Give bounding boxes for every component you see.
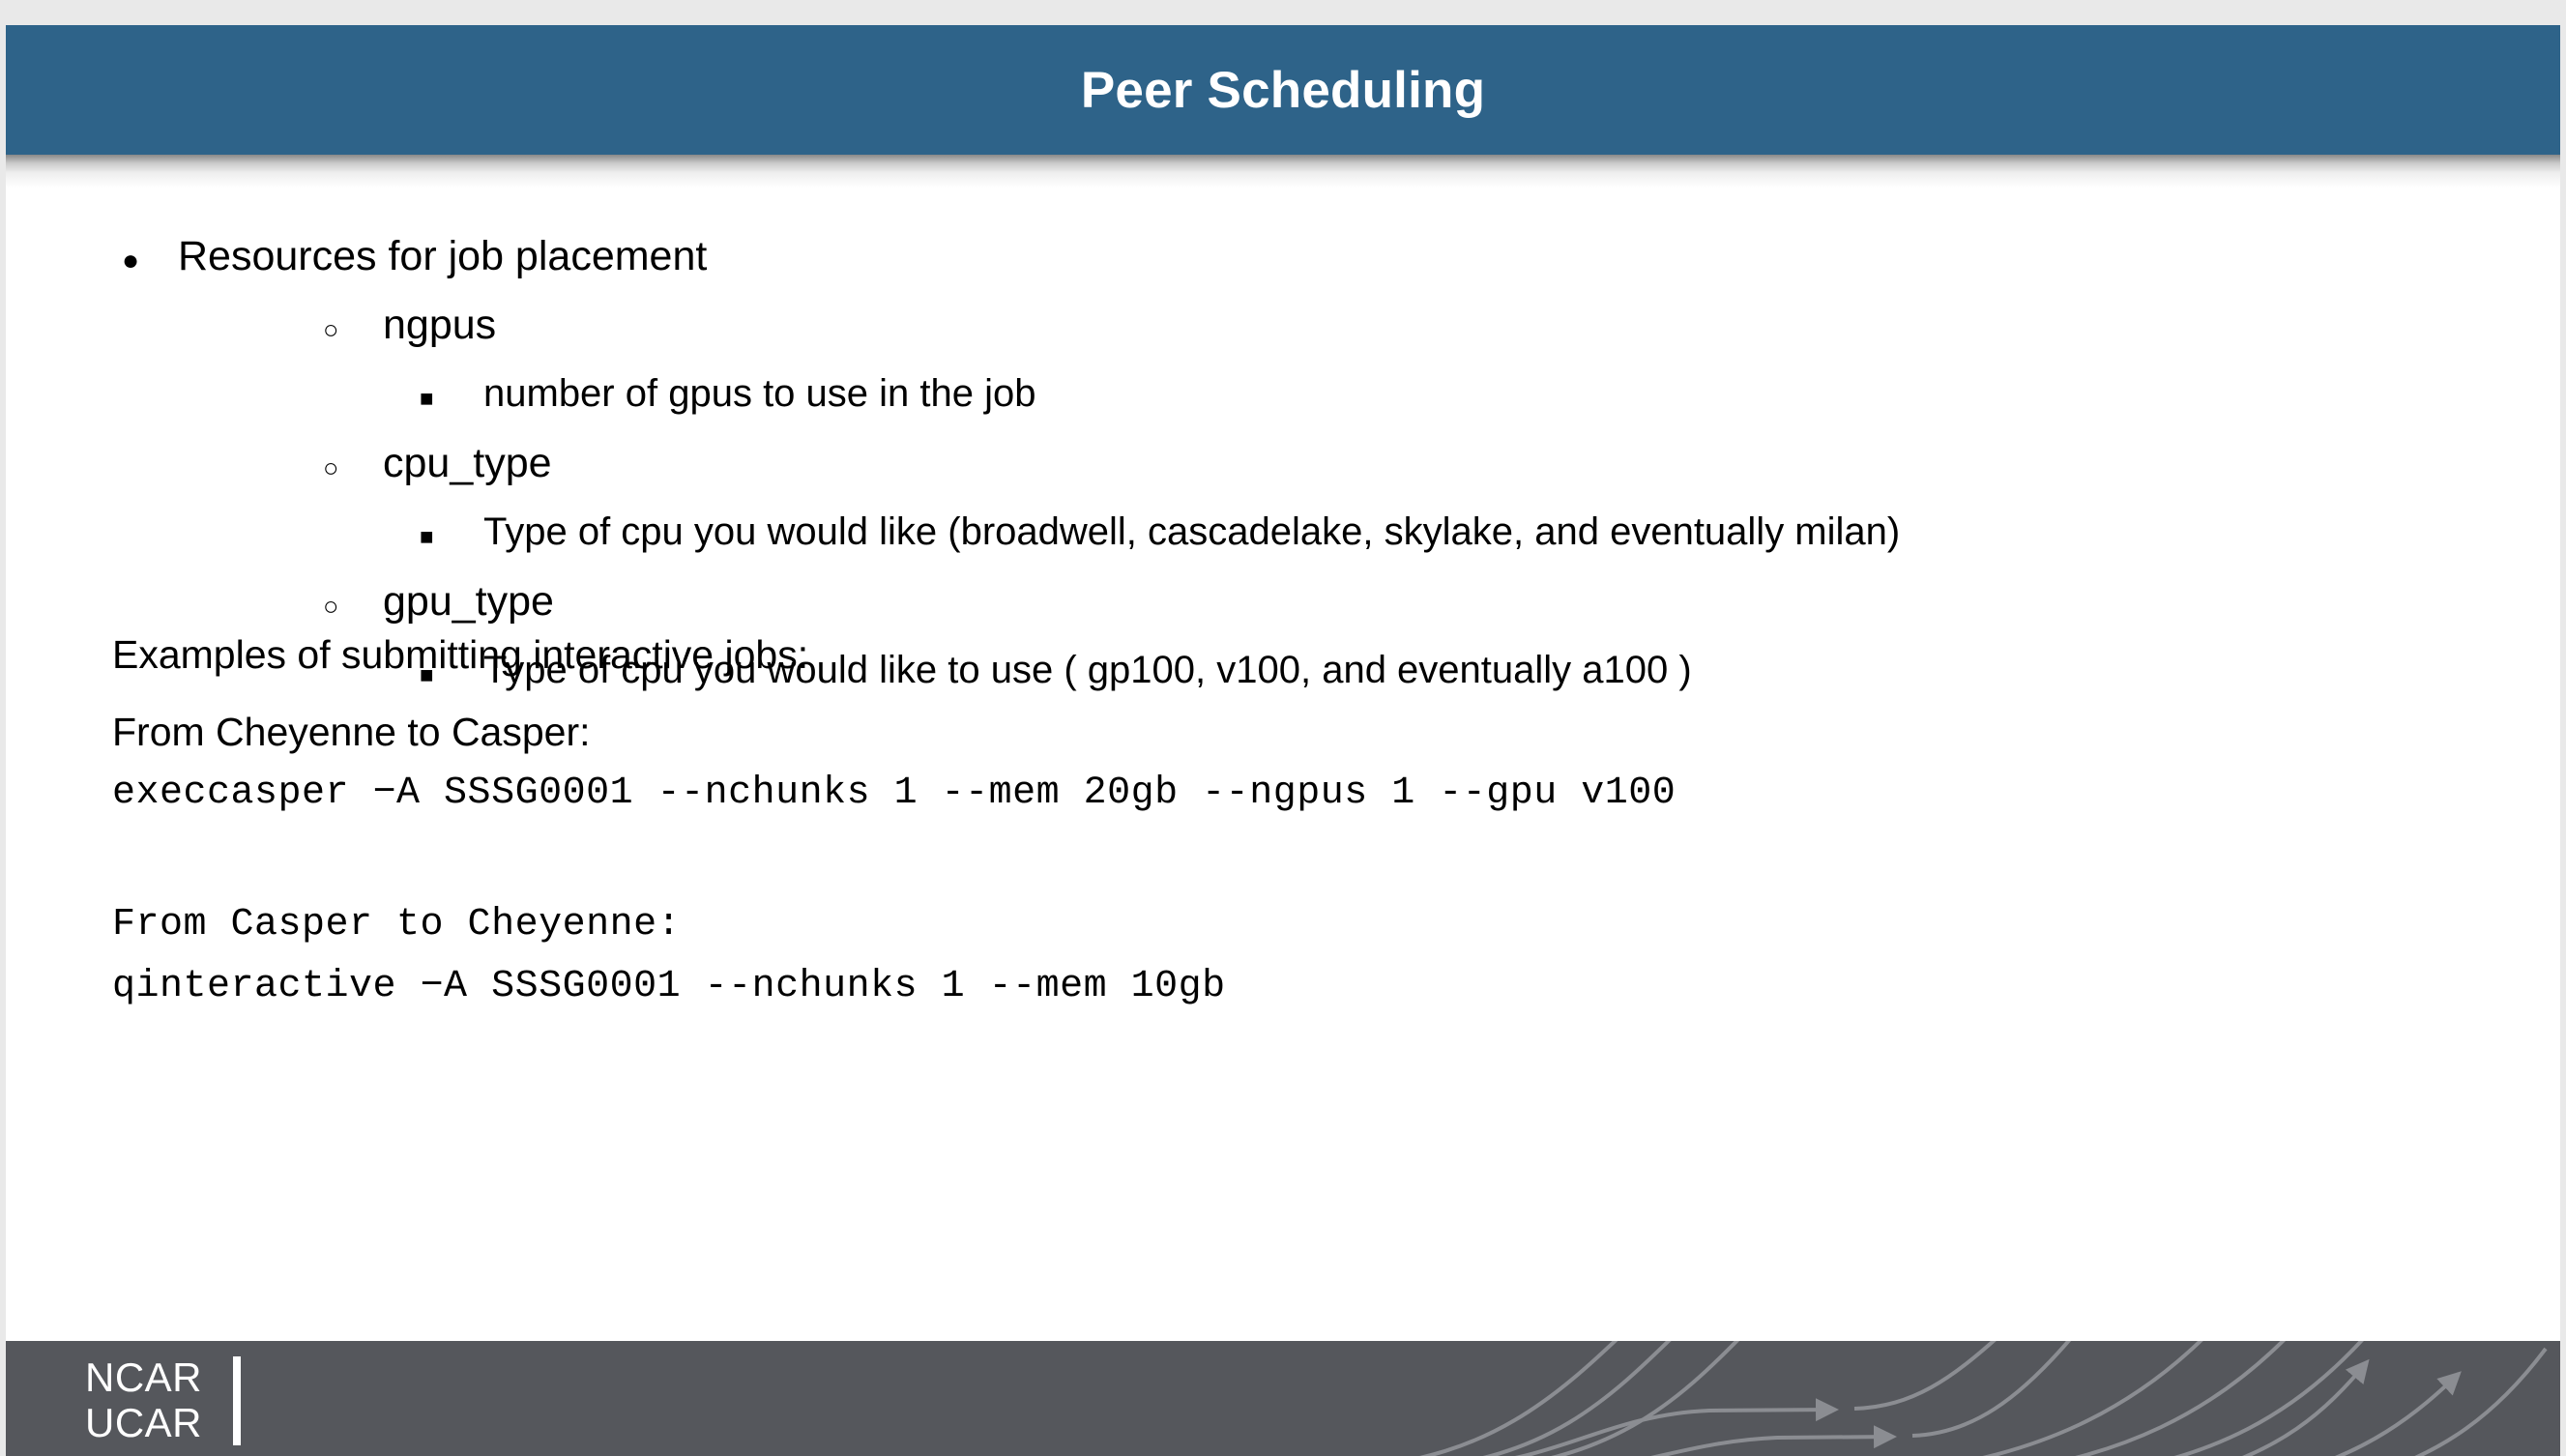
list-item: ■ number of gpus to use in the job xyxy=(6,362,2560,431)
list-item: ○ gpu_type xyxy=(6,569,2560,638)
filled-circle-bullet-icon: ● xyxy=(122,229,178,293)
list-item: ■ Type of cpu you would like (broadwell,… xyxy=(6,500,2560,569)
slide-body: ● Resources for job placement ○ ngpus ■ … xyxy=(6,155,2560,1341)
list-item-label: Resources for job placement xyxy=(178,224,707,288)
top-frame-strip xyxy=(0,0,2566,25)
list-item-label: Type of cpu you would like (broadwell, c… xyxy=(483,500,1900,564)
hollow-circle-bullet-icon: ○ xyxy=(323,574,383,638)
ncar-ucar-logo: NCAR UCAR xyxy=(85,1354,241,1445)
example-2-label: From Casper to Cheyenne: xyxy=(112,901,681,949)
example-2-command: qinteractive −A SSSG0001 --nchunks 1 --m… xyxy=(112,963,1226,1011)
logo-line-ucar: UCAR xyxy=(85,1400,202,1445)
slide-canvas: Peer Scheduling ● Resources for job plac… xyxy=(0,0,2566,1456)
left-frame-strip xyxy=(0,0,6,1456)
logo-divider-bar xyxy=(233,1356,241,1445)
hollow-circle-bullet-icon: ○ xyxy=(323,436,383,500)
page-title: Peer Scheduling xyxy=(1081,65,1485,116)
slide-title-bar: Peer Scheduling xyxy=(6,25,2560,155)
filled-square-bullet-icon: ■ xyxy=(420,367,483,431)
list-item-label: ngpus xyxy=(383,293,496,357)
list-item-label: number of gpus to use in the job xyxy=(483,362,1035,425)
filled-square-bullet-icon: ■ xyxy=(420,506,483,569)
list-item-label: cpu_type xyxy=(383,431,552,495)
logo-line-ncar: NCAR xyxy=(85,1354,202,1400)
list-item: ○ cpu_type xyxy=(6,431,2560,500)
right-frame-strip xyxy=(2560,0,2566,1456)
list-item: ○ ngpus xyxy=(6,293,2560,362)
example-1-label: From Cheyenne to Casper: xyxy=(112,708,591,756)
flow-streamline-decoration xyxy=(1400,1341,2560,1456)
hollow-circle-bullet-icon: ○ xyxy=(323,298,383,362)
examples-heading: Examples of submitting interactive jobs: xyxy=(112,630,808,679)
example-1-command: execcasper −A SSSG0001 --nchunks 1 --mem… xyxy=(112,770,1676,818)
list-item: ● Resources for job placement xyxy=(6,224,2560,293)
list-item-label: gpu_type xyxy=(383,569,554,633)
slide-footer: NCAR UCAR xyxy=(6,1341,2560,1456)
